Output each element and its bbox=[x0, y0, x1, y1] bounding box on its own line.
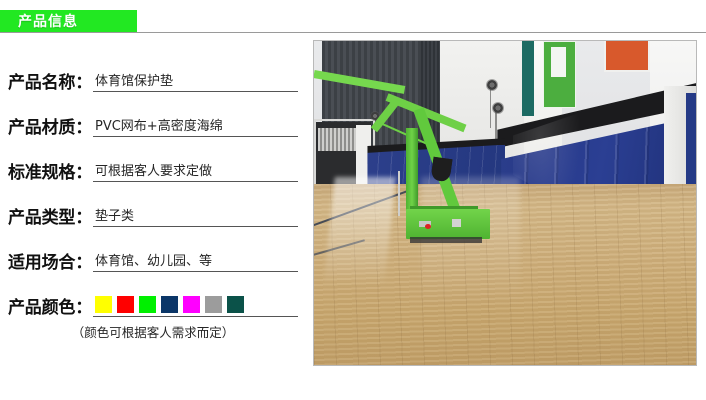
spec-value: PVC网布+高密度海绵 bbox=[95, 120, 223, 134]
photo-hoop-control-box-2 bbox=[452, 219, 462, 227]
spec-value-field: 垫子类 bbox=[93, 204, 298, 227]
spec-row-product-type: 产品类型： 垫子类 bbox=[8, 197, 298, 227]
product-info-page: 产品信息 产品名称： 体育馆保护垫 产品材质： PVC网布+高密度海绵 标准规格… bbox=[0, 0, 706, 400]
photo-wall-fan-1 bbox=[487, 80, 497, 90]
spec-label: 标准规格： bbox=[8, 165, 92, 182]
photo-sign-teal bbox=[522, 41, 533, 116]
color-swatch-red bbox=[117, 296, 134, 313]
spec-row-product-name: 产品名称： 体育馆保护垫 bbox=[8, 62, 298, 92]
photo-hoop-post bbox=[406, 128, 419, 215]
section-banner: 产品信息 bbox=[0, 10, 137, 32]
spec-row-product-color: 产品颜色： bbox=[8, 287, 298, 317]
spec-row-application: 适用场合： 体育馆、幼儿园、等 bbox=[8, 242, 298, 272]
spec-value-field: 体育馆、幼儿园、等 bbox=[93, 249, 298, 272]
photo-sign-green-inner bbox=[551, 47, 566, 76]
spec-label: 产品类型： bbox=[8, 210, 92, 227]
photo-storage-grill bbox=[318, 128, 360, 151]
spec-label: 适用场合： bbox=[8, 255, 92, 272]
spec-label: 产品颜色： bbox=[8, 300, 92, 317]
spec-value: 垫子类 bbox=[95, 210, 134, 224]
spec-value: 可根据客人要求定做 bbox=[95, 165, 212, 179]
color-swatch-yellow bbox=[95, 296, 112, 313]
spec-value-field: 可根据客人要求定做 bbox=[93, 159, 298, 182]
product-photo-frame bbox=[313, 40, 697, 366]
color-swatch-navy-blue bbox=[161, 296, 178, 313]
spec-value: 体育馆、幼儿园、等 bbox=[95, 255, 212, 269]
product-photo bbox=[314, 41, 696, 365]
banner-title: 产品信息 bbox=[0, 11, 78, 31]
color-swatch-magenta bbox=[183, 296, 200, 313]
spec-value: 体育馆保护垫 bbox=[95, 75, 173, 89]
photo-wall-fan-2 bbox=[493, 103, 503, 113]
color-swatch-green bbox=[139, 296, 156, 313]
color-swatch-dark-teal bbox=[227, 296, 244, 313]
spec-value-field: PVC网布+高密度海绵 bbox=[93, 114, 298, 137]
photo-sign-orange bbox=[604, 41, 650, 72]
photo-hoop-base-shadow bbox=[410, 237, 483, 243]
color-swatch-list bbox=[95, 296, 244, 314]
header-divider bbox=[0, 32, 706, 33]
spec-label: 产品材质： bbox=[8, 120, 92, 137]
color-swatch-gray bbox=[205, 296, 222, 313]
spec-value-field bbox=[93, 294, 298, 317]
spec-label: 产品名称： bbox=[8, 75, 92, 92]
spec-list: 产品名称： 体育馆保护垫 产品材质： PVC网布+高密度海绵 标准规格： 可根据… bbox=[0, 44, 305, 354]
photo-thin-pole bbox=[398, 171, 400, 216]
spec-row-material: 产品材质： PVC网布+高密度海绵 bbox=[8, 107, 298, 137]
photo-fan-stem-1 bbox=[490, 83, 492, 128]
color-availability-note: （颜色可根据客人需求而定） bbox=[8, 322, 298, 341]
photo-floor-reflection-1 bbox=[323, 177, 396, 287]
spec-value-field: 体育馆保护垫 bbox=[93, 69, 298, 92]
spec-row-standard-spec: 标准规格： 可根据客人要求定做 bbox=[8, 152, 298, 182]
